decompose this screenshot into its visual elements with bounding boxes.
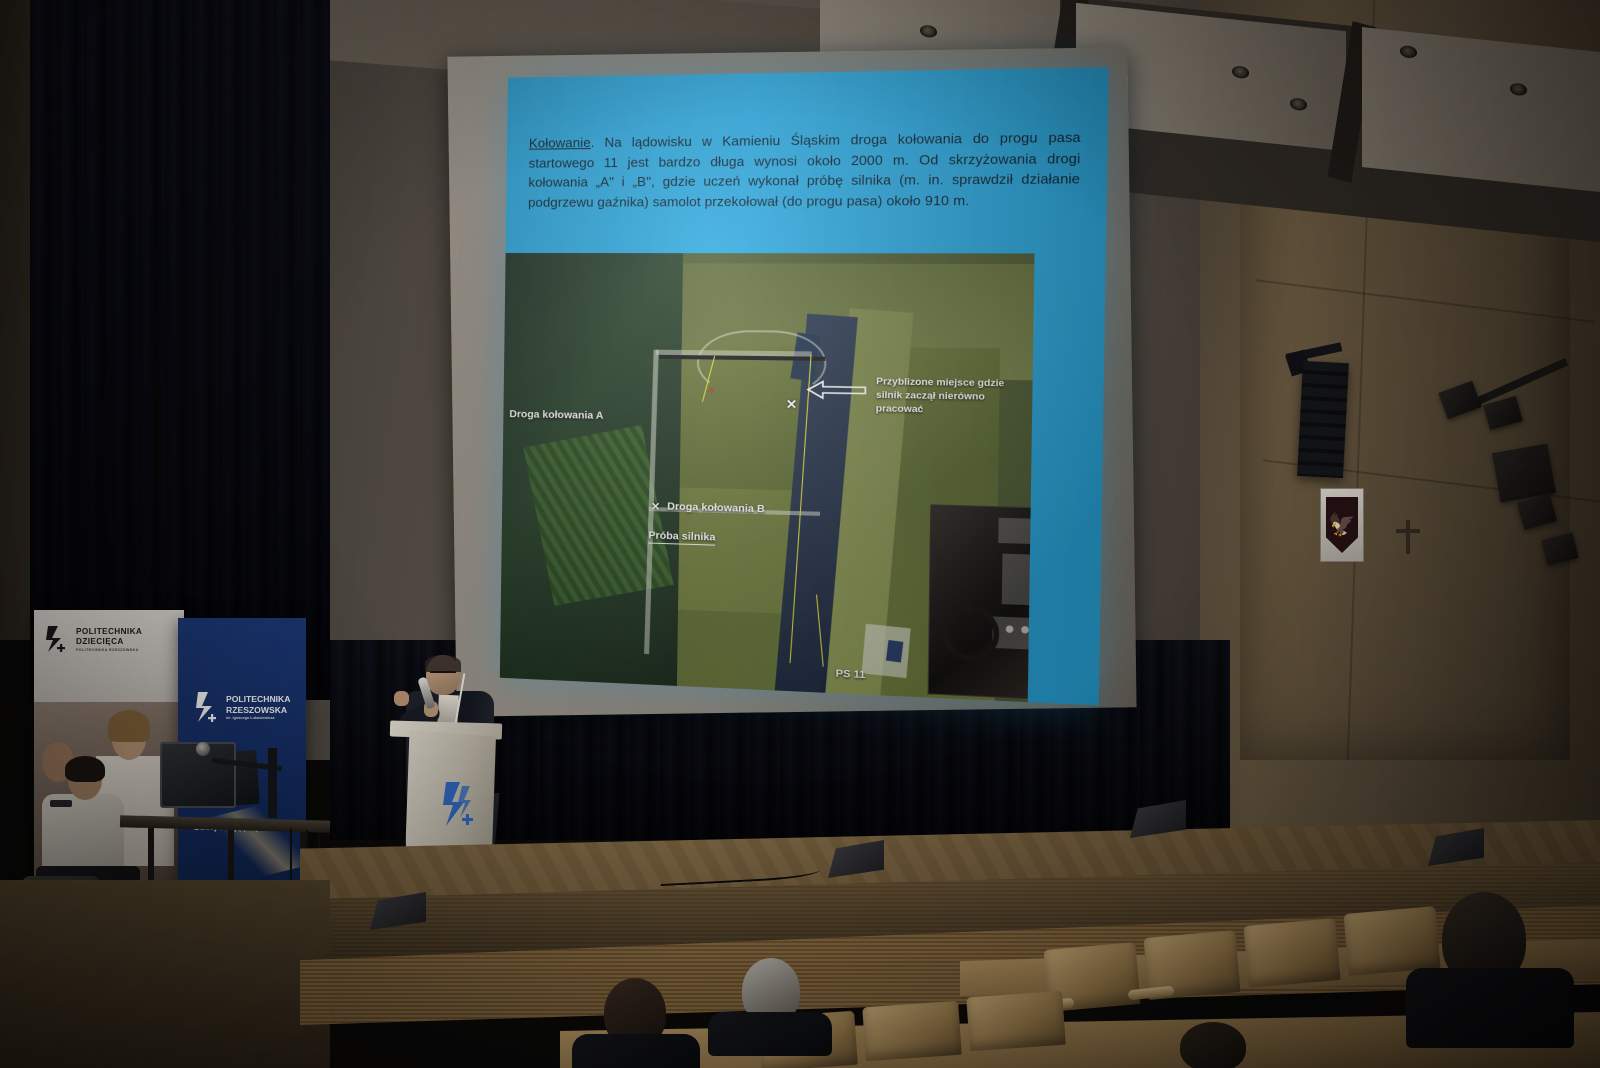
aerial-cross-tick: ✕ <box>651 500 661 513</box>
line-array-speaker <box>1297 361 1349 478</box>
auditorium-seat <box>862 1001 962 1062</box>
slide-heading: Kołowanie <box>529 135 591 151</box>
presenter-left-hand <box>394 691 409 706</box>
callout-arrow-icon <box>806 379 868 401</box>
presenter-hair <box>425 655 461 672</box>
presenter-glasses <box>430 671 456 679</box>
banner-footer: POLITECHNIKA RZESZOWSKA <box>76 648 139 652</box>
cockpit-instrument-strip <box>998 518 1034 545</box>
emblem-shield: 🦅 <box>1326 497 1358 553</box>
aerial-label-engine-test: Próba silnika <box>648 529 715 545</box>
audience-shoulders <box>708 1012 832 1056</box>
operator-epaulette <box>50 800 72 807</box>
polish-eagle-emblem: 🦅 <box>1320 488 1364 562</box>
curtain-shading <box>30 0 330 700</box>
crucifix-crossbar <box>1396 529 1420 533</box>
banner-footer: im. Ignacego Łukasiewicza <box>226 716 275 720</box>
banner-title: POLITECHNIKA <box>76 627 142 636</box>
eagle-icon: 🦅 <box>1328 514 1355 536</box>
banner-logo-icon <box>44 624 70 654</box>
cockpit-knob <box>1021 626 1029 634</box>
audience-shoulders <box>572 1034 700 1068</box>
banner-subtitle: RZESZOWSKA <box>226 705 287 715</box>
crucifix-icon <box>1406 520 1410 554</box>
cockpit-knob <box>1006 625 1014 633</box>
operator-hair <box>65 756 105 782</box>
aerial-incident-x-marker: ✕ <box>786 396 798 413</box>
stage-left-floor <box>0 880 330 1068</box>
cockpit-yoke <box>942 605 999 662</box>
equipment-pole <box>268 748 277 818</box>
aerial-parked-aircraft <box>886 640 903 663</box>
ceiling-panel <box>1362 27 1600 197</box>
audience-head <box>1180 1022 1246 1068</box>
banner-title: POLITECHNIKA <box>226 694 290 704</box>
auditorium-seat <box>1243 918 1340 988</box>
aerial-label-taxiway-a: Droga kołowania A <box>509 408 603 422</box>
slide-paragraph: . Na lądowisku w Kamieniu Śląskim droga … <box>528 129 1081 209</box>
auditorium-seat <box>1343 906 1440 976</box>
aerial-label-ps11: PS 11 <box>836 667 866 681</box>
presentation-slide: Kołowanie. Na lądowisku w Kamieniu Śląsk… <box>500 67 1109 705</box>
banner-subtitle: DZIECIĘCA <box>76 637 124 646</box>
cockpit-inset-photo <box>927 504 1034 701</box>
banner-logo-icon <box>194 690 220 724</box>
auditorium-photo-scene: Kołowanie. Na lądowisku w Kamieniu Śląsk… <box>0 0 1600 1068</box>
callout-text: Przyblizone miejsce gdzie silnik zaczął … <box>876 376 1029 419</box>
banner-swoosh-graphic <box>181 794 306 893</box>
audience-shoulders <box>1406 968 1574 1048</box>
banner-child-hair <box>108 710 150 742</box>
slide-body-text: Kołowanie. Na lądowisku w Kamieniu Śląsk… <box>528 127 1081 212</box>
projection-screen: Kołowanie. Na lądowisku w Kamieniu Śląsk… <box>447 47 1136 716</box>
left-stage-curtain <box>30 0 330 700</box>
camera-icon <box>196 742 210 756</box>
auditorium-seat <box>966 991 1066 1052</box>
cockpit-instrument-strip <box>1002 554 1035 607</box>
politechnika-rzeszowska-logo-icon <box>440 778 480 830</box>
aerial-photograph: ✈ ✕ ✕ Przyblizone miejsce gdzie silnik z… <box>500 253 1035 702</box>
